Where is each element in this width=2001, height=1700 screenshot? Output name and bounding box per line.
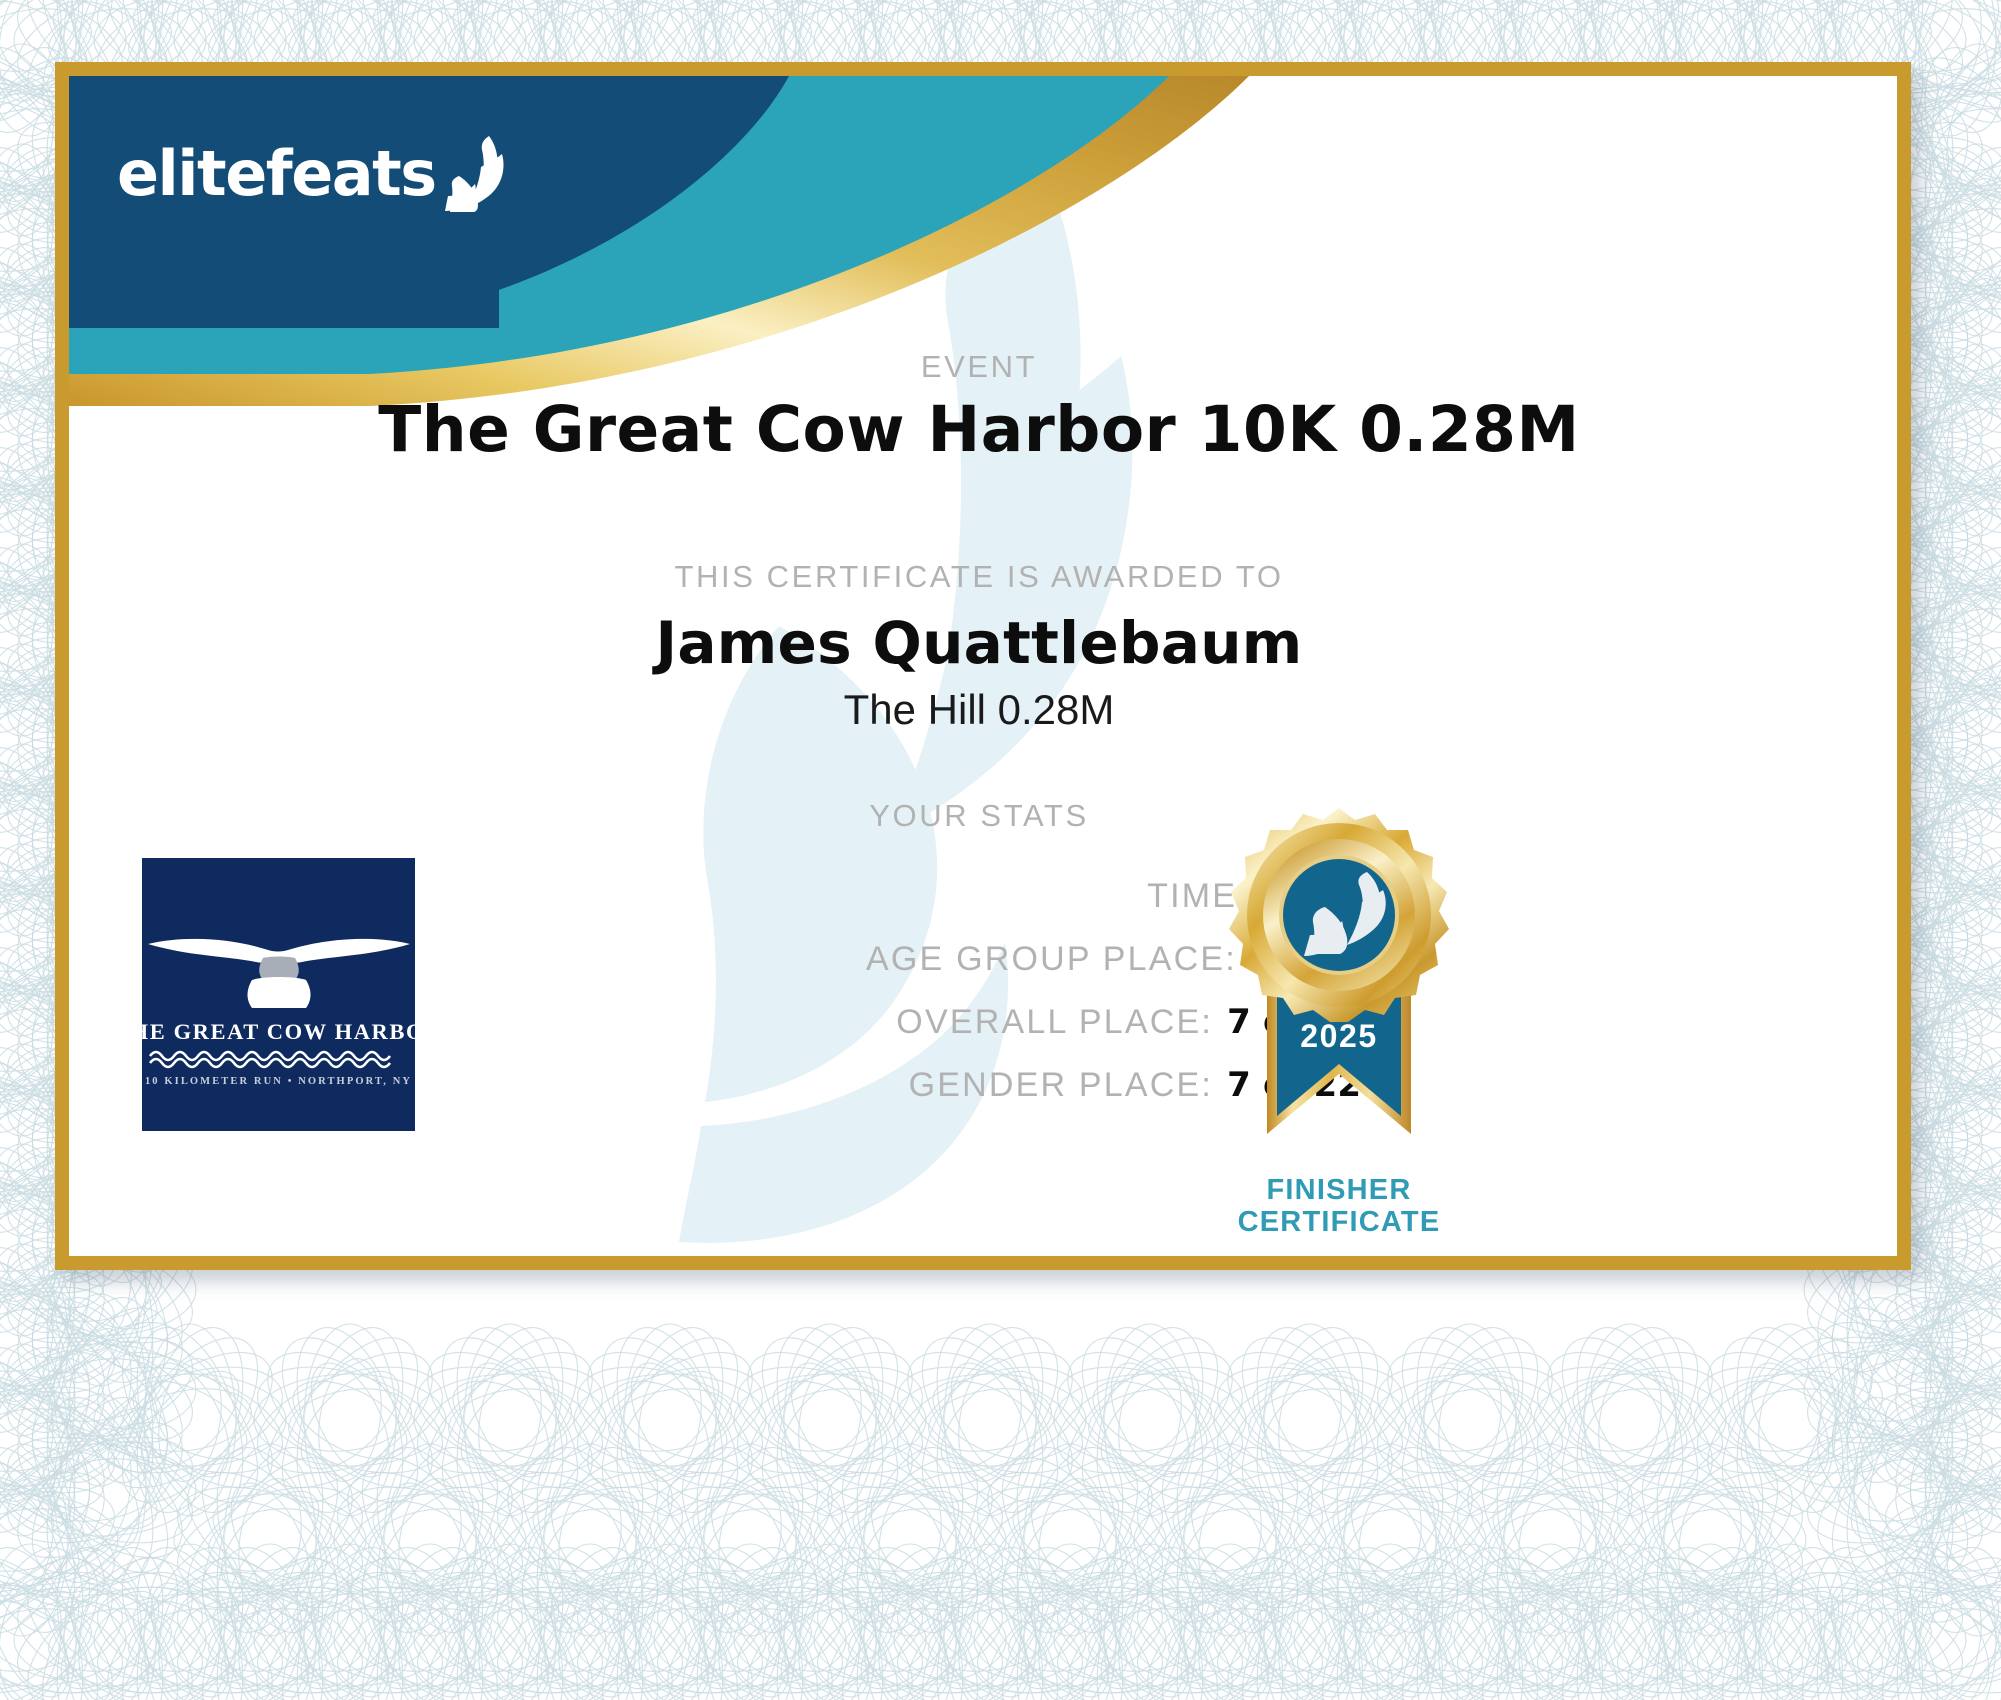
finisher-caption-line2: CERTIFICATE [1169,1206,1509,1238]
race-logo-subtitle: 10 KILOMETER RUN • NORTHPORT, NY [145,1076,412,1087]
certificate-content: EVENT The Great Cow Harbor 10K 0.28M THI… [69,76,1897,1256]
certificate-body: elitefeats EVENT The Great Cow Harbor 10… [69,76,1897,1256]
stat-label-overall-place: OVERALL PLACE: [896,1003,1213,1042]
finisher-caption: FINISHER CERTIFICATE [1169,1174,1509,1239]
badge-year: 2025 [1300,1018,1378,1054]
finisher-medal-badge: 2025 [1209,804,1469,1204]
certificate-frame: elitefeats EVENT The Great Cow Harbor 10… [55,62,1911,1270]
awarded-to-label: THIS CERTIFICATE IS AWARDED TO [489,559,1469,595]
recipient-name: James Quattlebaum [389,609,1569,677]
stat-label-age-group-place: AGE GROUP PLACE: [866,940,1237,979]
stat-label-gender-place: GENDER PLACE: [909,1066,1213,1105]
race-logo-title: THE GREAT COW HARBOR [142,1019,415,1044]
finisher-caption-line1: FINISHER [1169,1174,1509,1206]
badge-medal [1229,808,1449,1022]
event-label: EVENT [539,349,1419,385]
event-title: The Great Cow Harbor 10K 0.28M [339,393,1619,466]
race-logo: THE GREAT COW HARBOR 10 KILOMETER RUN • … [142,858,415,1131]
recipient-subtitle: The Hill 0.28M [489,686,1469,734]
